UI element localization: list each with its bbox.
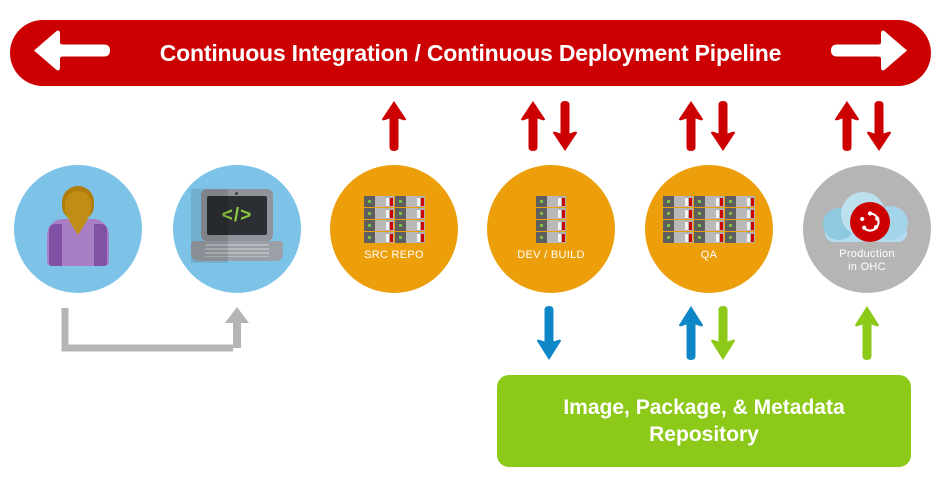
- server-rack-icon: [364, 196, 425, 243]
- repository-label: Image, Package, & Metadata Repository: [563, 394, 844, 449]
- node-label-qa: QA: [701, 249, 718, 262]
- top-arrow-production-down: [865, 100, 893, 157]
- top-arrow-qa-up: [677, 100, 705, 157]
- diagram-canvas: Continuous Integration / Continuous Depl…: [0, 0, 941, 500]
- node-qa[interactable]: QA: [645, 165, 773, 293]
- cloud-openshift-icon: [819, 184, 915, 242]
- node-workstation[interactable]: </>: [173, 165, 301, 293]
- node-dev-build[interactable]: DEV / BUILD: [487, 165, 615, 293]
- developer-to-workstation-connector: [60, 305, 250, 365]
- server-rack-icon: [663, 196, 755, 243]
- person-icon: [41, 186, 115, 266]
- repository-box[interactable]: Image, Package, & Metadata Repository: [497, 375, 911, 467]
- arrow-left-icon: [30, 29, 114, 78]
- top-arrow-dev-build-down: [551, 100, 579, 157]
- node-label-src-repo: SRC REPO: [364, 249, 424, 262]
- top-arrow-qa-down: [709, 100, 737, 157]
- bottom-arrow-dev-build-down: [535, 305, 563, 366]
- node-label-production-ohc: Production in OHC: [839, 248, 895, 273]
- node-developer[interactable]: [14, 165, 142, 293]
- node-production-ohc[interactable]: Production in OHC: [803, 165, 931, 293]
- arrow-right-icon: [827, 29, 911, 78]
- bottom-arrow-production-up: [853, 305, 881, 366]
- top-arrow-production-up: [833, 100, 861, 157]
- top-arrow-dev-build-up: [519, 100, 547, 157]
- server-rack-icon: [536, 196, 566, 243]
- page-title: Continuous Integration / Continuous Depl…: [160, 40, 782, 67]
- top-arrow-src-repo-up: [380, 100, 408, 157]
- pipeline-banner: Continuous Integration / Continuous Depl…: [10, 20, 931, 86]
- node-label-dev-build: DEV / BUILD: [517, 249, 585, 262]
- laptop-code-icon: </>: [191, 189, 283, 263]
- bottom-arrow-qa-up: [677, 305, 705, 366]
- bottom-arrow-qa-down: [709, 305, 737, 366]
- node-src-repo[interactable]: SRC REPO: [330, 165, 458, 293]
